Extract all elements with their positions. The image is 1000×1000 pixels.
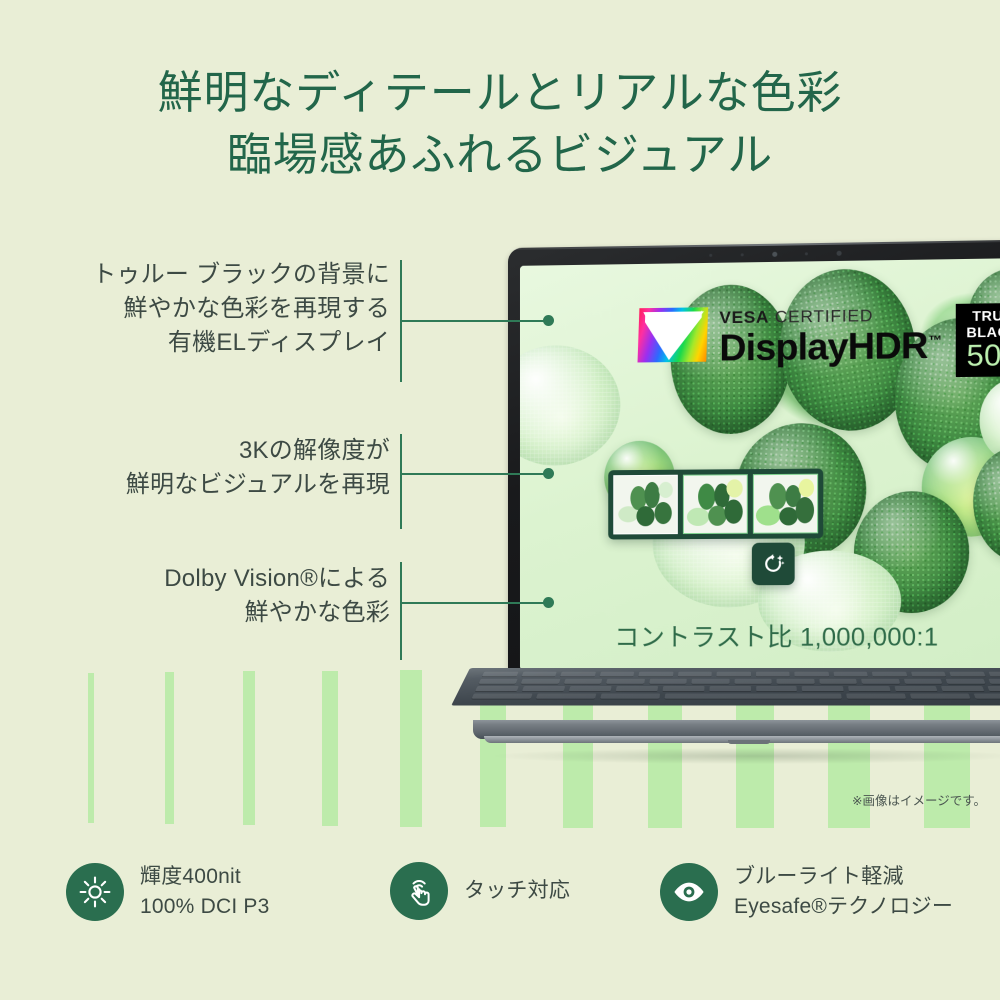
key	[872, 672, 907, 677]
key	[861, 679, 899, 684]
contrast-ratio-caption: コントラスト比 1,000,000:1	[520, 617, 1000, 654]
vesa-certified-line: VESA CERTIFIED	[719, 306, 941, 326]
headline-line-1: 鮮明なディテールとリアルな色彩	[0, 62, 1000, 124]
key	[895, 686, 938, 691]
vesa-logo-icon	[638, 307, 709, 362]
eye-icon	[660, 863, 718, 921]
feature-row: 輝度400nit 100% DCI P3 タッチ対応	[0, 862, 1000, 962]
key	[662, 686, 704, 691]
callout-3-leader-line	[400, 602, 548, 604]
feature-brightness: 輝度400nit 100% DCI P3	[66, 862, 270, 922]
image-disclaimer: ※画像はイメージです。	[852, 790, 986, 809]
key	[846, 693, 906, 698]
key	[600, 693, 660, 698]
key	[615, 686, 657, 691]
laptop-keyboard	[451, 668, 1000, 705]
callout-1-anchor-dot	[543, 315, 554, 326]
callout-dolby-vision: Dolby Vision®による 鮮やかな色彩	[30, 562, 390, 630]
displayhdr-text: DisplayHDR	[719, 325, 927, 369]
callout-3k-resolution: 3Kの解像度が 鮮明なビジュアルを再現	[30, 434, 390, 502]
key	[677, 672, 711, 677]
key	[848, 686, 890, 691]
feature-1-line-1: 輝度400nit	[140, 862, 270, 892]
callout-2-line-2: 鮮明なビジュアルを再現	[30, 468, 390, 502]
key	[649, 679, 687, 684]
key	[756, 672, 790, 677]
key	[833, 672, 868, 677]
brightness-sun-icon	[66, 863, 124, 921]
key	[988, 679, 1000, 684]
key	[988, 672, 1000, 677]
key	[521, 679, 560, 684]
image-thumbnail-strip[interactable]	[608, 469, 823, 540]
callout-3-line-2: 鮮やかな色彩	[30, 596, 390, 630]
callout-3-anchor-dot	[543, 597, 554, 608]
sensor-dot	[837, 250, 842, 255]
ai-enhance-button[interactable]	[752, 543, 795, 586]
feature-brightness-label: 輝度400nit 100% DCI P3	[140, 862, 270, 922]
feature-3-line-1: ブルーライト軽減	[734, 862, 953, 892]
key	[911, 672, 946, 677]
sensor-dot	[709, 253, 712, 256]
vesa-displayhdr-badge: VESA CERTIFIED DisplayHDR™ TRUE BLACK 50…	[638, 303, 1000, 381]
key	[946, 679, 985, 684]
callout-2-bracket	[400, 434, 402, 529]
laptop-screen: VESA CERTIFIED DisplayHDR™ TRUE BLACK 50…	[520, 258, 1000, 670]
callout-3-line-1: Dolby Vision®による	[30, 562, 390, 596]
feature-1-line-2: 100% DCI P3	[140, 892, 270, 922]
key	[802, 686, 844, 691]
webcam-lens-icon	[772, 251, 777, 256]
key	[910, 693, 970, 698]
feature-touch: タッチ対応	[390, 862, 570, 920]
key	[569, 686, 612, 691]
touch-hand-icon	[390, 862, 448, 920]
true-text: TRUE	[966, 308, 1000, 324]
key	[734, 679, 771, 684]
callout-1-leader-line	[400, 320, 548, 322]
callout-3-bracket	[400, 562, 402, 660]
feature-eyesafe: ブルーライト軽減 Eyesafe®テクノロジー	[660, 862, 953, 922]
black-text: BLACK	[966, 324, 1000, 340]
key	[560, 672, 595, 677]
feature-touch-label: タッチ対応	[464, 876, 570, 906]
key	[777, 679, 815, 684]
key	[904, 679, 943, 684]
callout-1-line-1: トゥルー ブラックの背景に	[30, 258, 390, 292]
spacebar-key	[665, 693, 842, 698]
true-black-500-box: TRUE BLACK 500	[956, 303, 1000, 377]
laptop-open-notch	[728, 740, 770, 744]
feature-2-line-1: タッチ対応	[464, 876, 570, 906]
callout-2-leader-line	[400, 473, 548, 475]
promo-page: 鮮明なディテールとリアルな色彩 臨場感あふれるビジュアル トゥルー ブラックの背…	[0, 0, 1000, 1000]
feature-eyesafe-label: ブルーライト軽減 Eyesafe®テクノロジー	[734, 862, 953, 922]
trademark-symbol: ™	[929, 332, 942, 347]
key	[819, 679, 857, 684]
thumbnail-option-2[interactable]	[683, 474, 748, 534]
feature-3-line-2: Eyesafe®テクノロジー	[734, 892, 953, 922]
sensor-dot	[740, 253, 743, 256]
key	[974, 693, 1000, 698]
thumbnail-option-3[interactable]	[753, 474, 818, 534]
key	[536, 693, 596, 698]
key	[606, 679, 644, 684]
true-black-label: TRUE BLACK	[966, 308, 1000, 339]
key	[988, 686, 1000, 691]
key	[794, 672, 828, 677]
key	[716, 672, 750, 677]
displayhdr-wordmark: DisplayHDR™	[719, 325, 941, 367]
key	[599, 672, 634, 677]
page-title: 鮮明なディテールとリアルな色彩 臨場感あふれるビジュアル	[0, 62, 1000, 186]
key	[564, 679, 603, 684]
key	[756, 686, 798, 691]
key	[522, 686, 565, 691]
key	[479, 679, 519, 684]
sensor-dot	[805, 252, 808, 255]
webcam-sensor-row	[709, 250, 841, 258]
key	[521, 672, 557, 677]
key	[638, 672, 673, 677]
key	[482, 672, 518, 677]
callout-2-line-1: 3Kの解像度が	[30, 434, 390, 468]
key	[475, 686, 519, 691]
callout-oled-display: トゥルー ブラックの背景に 鮮やかな色彩を再現する 有機ELディスプレイ	[30, 258, 390, 360]
laptop-product-image: VESA CERTIFIED DisplayHDR™ TRUE BLACK 50…	[470, 248, 1000, 768]
certified-word: CERTIFIED	[775, 306, 873, 327]
true-black-number: 500	[966, 340, 1000, 371]
key	[949, 672, 985, 677]
key	[472, 693, 533, 698]
callout-1-line-2: 鮮やかな色彩を再現する	[30, 292, 390, 326]
key	[941, 686, 984, 691]
ai-enhance-icon	[761, 552, 785, 576]
laptop-base	[470, 668, 1000, 768]
vesa-word: VESA	[719, 307, 769, 327]
headline-line-2: 臨場感あふれるビジュアル	[0, 124, 1000, 186]
callout-1-line-3: 有機ELディスプレイ	[30, 326, 390, 360]
vesa-badge-text: VESA CERTIFIED DisplayHDR™	[719, 304, 941, 368]
laptop-lid: VESA CERTIFIED DisplayHDR™ TRUE BLACK 50…	[508, 239, 1000, 676]
callout-2-anchor-dot	[543, 468, 554, 479]
key	[692, 679, 730, 684]
thumbnail-option-1[interactable]	[613, 475, 678, 535]
key	[709, 686, 751, 691]
